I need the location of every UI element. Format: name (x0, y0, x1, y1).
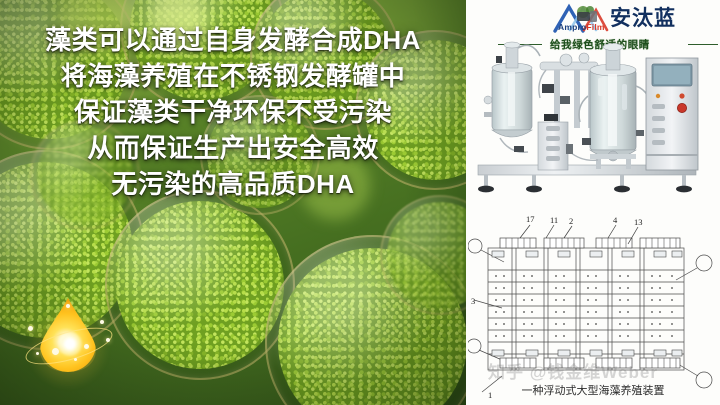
diagram-label-2: 2 (569, 216, 573, 226)
subtitle-line-1: 藻类可以通过自身发酵合成DHA (45, 26, 421, 55)
sparkle-particle (74, 358, 77, 361)
diagram-label-13: 13 (634, 217, 643, 227)
subtitle-block: 藻类可以通过自身发酵合成DHA 将海藻养殖在不锈钢发酵罐中 保证藻类干净环保不受… (0, 26, 466, 200)
stainless-steel-fermentation-tank-system (470, 26, 716, 198)
sparkle-particle (100, 320, 104, 324)
right-info-panel: 安汰蓝 AmproFilm 给我绿色舒适的眼睛 (466, 0, 720, 405)
sparkle-particle (28, 326, 33, 331)
sparkle-particle (36, 352, 39, 355)
diagram-label-17: 17 (526, 214, 535, 224)
diagram-label-3: 3 (471, 296, 475, 306)
subtitle-line-3: 保证藻类干净环保不受污染 (74, 98, 392, 127)
sparkle-particle (106, 338, 110, 342)
diagram-label-4: 4 (613, 215, 618, 225)
subtitle-line-5: 无污染的高品质DHA (111, 170, 354, 199)
patent-figure-floating-seaweed-farm: 17 11 2 4 13 3 1 (468, 200, 718, 405)
diagram-label-11: 11 (550, 215, 558, 225)
algae-background-panel: 藻类可以通过自身发酵合成DHA 将海藻养殖在不锈钢发酵罐中 保证藻类干净环保不受… (0, 0, 466, 405)
sparkle-particle (52, 348, 59, 355)
subtitle-line-4: 从而保证生产出安全高效 (87, 134, 379, 163)
sparkle-particle (84, 344, 89, 349)
video-frame-screenshot: 藻类可以通过自身发酵合成DHA 将海藻养殖在不锈钢发酵罐中 保证藻类干净环保不受… (0, 0, 720, 405)
sparkle-particle (66, 304, 70, 308)
subtitle-line-2: 将海藻养殖在不锈钢发酵罐中 (61, 62, 406, 91)
dha-oil-droplet (22, 292, 114, 400)
patent-figure-caption: 一种浮动式大型海藻养殖装置 (466, 382, 720, 398)
droplet-core-glow (58, 332, 82, 356)
